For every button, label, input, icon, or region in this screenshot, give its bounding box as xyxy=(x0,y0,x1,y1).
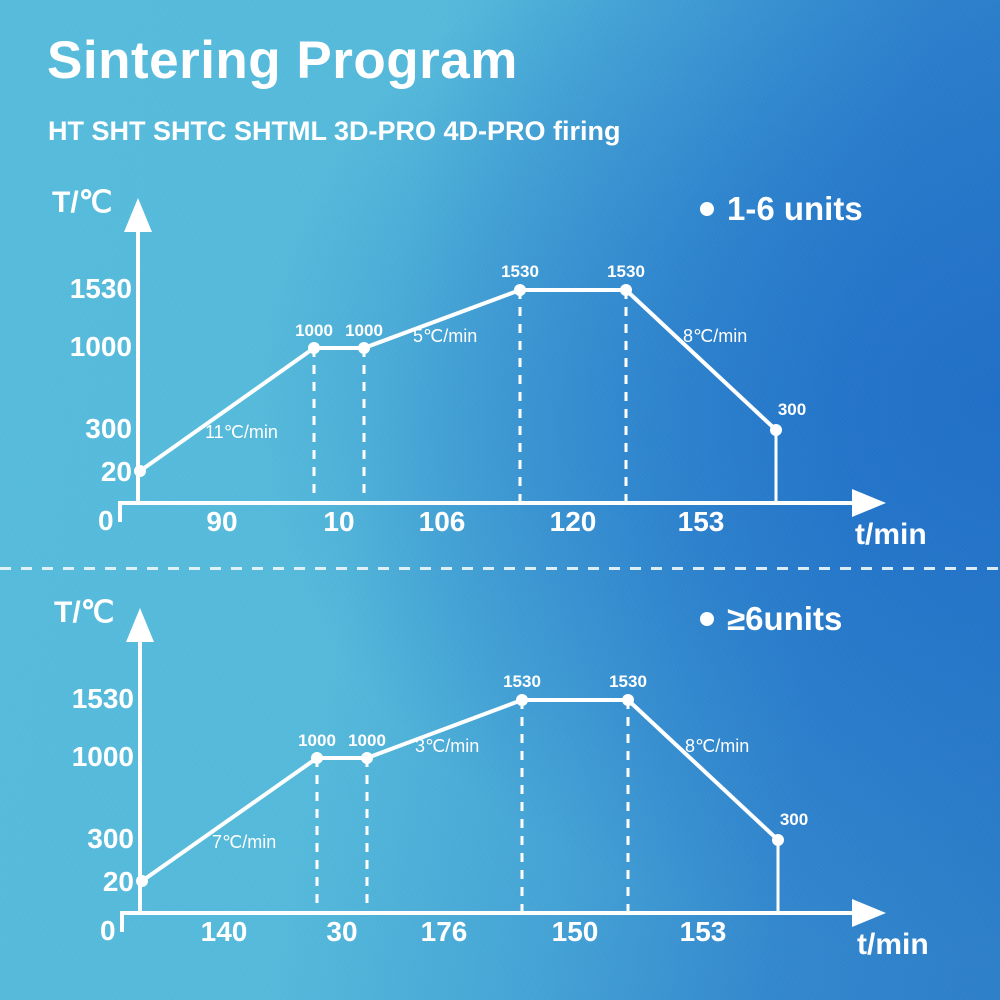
chart-1-graphics xyxy=(0,170,1000,590)
chart-1-y-tick-1530: 1530 xyxy=(40,275,132,303)
chart-1-x-tick-106: 106 xyxy=(392,508,492,536)
chart-1-x-tick-120: 120 xyxy=(523,508,623,536)
chart-1-point-label-1530-a: 1530 xyxy=(480,263,560,280)
chart-2-rate-label-2: 3℃/min xyxy=(415,737,479,755)
chart-1-y-tick-20: 20 xyxy=(40,458,132,486)
chart-1-point-label-1000-b: 1000 xyxy=(324,322,404,339)
chart-2-legend-label: ≥6units xyxy=(727,602,842,635)
chart-1-rate-label-3: 8℃/min xyxy=(683,327,747,345)
page-subtitle: HT SHT SHTC SHTML 3D-PRO 4D-PRO firing xyxy=(48,118,621,145)
chart-2-x-axis-title: t/min xyxy=(857,930,929,960)
bullet-dot-icon xyxy=(700,202,714,216)
chart-2-legend: ≥6units xyxy=(700,602,842,635)
chart-1-origin-label: 0 xyxy=(98,507,114,535)
chart-1-x-axis-title: t/min xyxy=(855,520,927,550)
chart-2-point-label-300: 300 xyxy=(754,811,834,828)
chart-2-x-tick-140: 140 xyxy=(174,918,274,946)
chart-2-point-label-1530-b: 1530 xyxy=(588,673,668,690)
chart-1-y-axis-title: T/℃ xyxy=(52,188,112,218)
chart-1-legend: 1-6 units xyxy=(700,192,863,225)
chart-2-y-tick-1530: 1530 xyxy=(42,685,134,713)
chart-2-y-tick-20: 20 xyxy=(42,868,134,896)
chart-1-y-tick-300: 300 xyxy=(40,415,132,443)
chart-1-x-tick-153: 153 xyxy=(651,508,751,536)
chart-1-x-tick-10: 10 xyxy=(289,508,389,536)
chart-panel-1: T/℃ 1530 1000 300 20 0 90 10 106 120 153… xyxy=(0,170,1000,590)
chart-1-rate-label-1: 11℃/min xyxy=(205,423,278,441)
chart-1-point-label-300: 300 xyxy=(752,401,832,418)
chart-panel-2: T/℃ 1530 1000 300 20 0 140 30 176 150 15… xyxy=(0,580,1000,1000)
page-title: Sintering Program xyxy=(47,34,518,87)
chart-2-point-label-1530-a: 1530 xyxy=(482,673,562,690)
chart-2-point-label-1000-b: 1000 xyxy=(327,732,407,749)
chart-2-y-axis-title: T/℃ xyxy=(54,598,114,628)
chart-1-point-label-1530-b: 1530 xyxy=(586,263,666,280)
chart-1-legend-label: 1-6 units xyxy=(727,192,863,225)
chart-1-y-tick-1000: 1000 xyxy=(40,333,132,361)
chart-2-origin-label: 0 xyxy=(100,917,116,945)
chart-2-graphics xyxy=(0,580,1000,1000)
chart-2-x-tick-150: 150 xyxy=(525,918,625,946)
chart-2-y-tick-1000: 1000 xyxy=(42,743,134,771)
chart-1-x-tick-90: 90 xyxy=(172,508,272,536)
chart-1-rate-label-2: 5℃/min xyxy=(413,327,477,345)
chart-2-x-tick-176: 176 xyxy=(394,918,494,946)
chart-2-y-tick-300: 300 xyxy=(42,825,134,853)
chart-2-rate-label-1: 7℃/min xyxy=(212,833,276,851)
chart-2-x-tick-153: 153 xyxy=(653,918,753,946)
chart-2-rate-label-3: 8℃/min xyxy=(685,737,749,755)
chart-2-x-tick-30: 30 xyxy=(292,918,392,946)
bullet-dot-icon xyxy=(700,612,714,626)
